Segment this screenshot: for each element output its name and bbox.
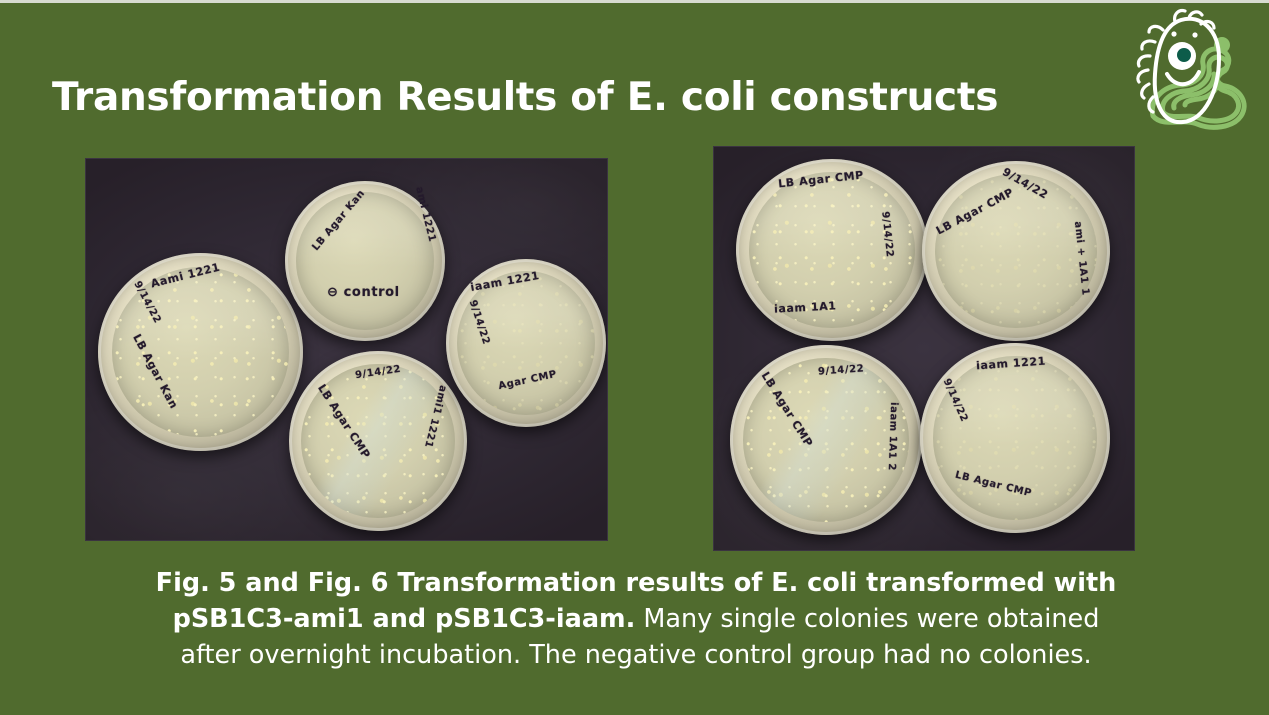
figure-5-photo: Aami 1221 9/14/22 LB Agar Kan LB Agar Ka… <box>85 158 608 541</box>
agar-surface <box>933 356 1096 519</box>
figure-caption-line3: after overnight incubation. The negative… <box>180 640 1091 670</box>
agar-sheen <box>457 271 595 416</box>
agar-surface <box>935 174 1097 329</box>
agar-sheen <box>933 356 1096 519</box>
dish-negative-control: LB Agar Kan ami 1221 ⊖ control <box>285 181 445 341</box>
agar-sheen <box>935 174 1097 329</box>
dish-ami1-kan-left: Aami 1221 9/14/22 LB Agar Kan <box>98 253 303 451</box>
agar-sheen <box>296 192 434 330</box>
igem-bacterium-mascot-logo <box>1119 8 1261 140</box>
logo-antenna-dot-left-icon <box>1171 31 1176 36</box>
figure-caption: Fig. 5 and Fig. 6 Transformation results… <box>62 565 1210 673</box>
figure-caption-line2-normal: Many single colonies were obtained <box>635 604 1099 634</box>
dish-iaam-1221-right: iaam 1221 9/14/22 Agar CMP <box>446 259 606 427</box>
agar-surface <box>749 172 914 329</box>
agar-sheen <box>743 358 908 521</box>
logo-antenna-dot-right-icon <box>1192 32 1197 37</box>
figure-caption-line2-bold: pSB1C3-ami1 and pSB1C3-iaam. <box>173 604 636 634</box>
slide-top-rule <box>0 0 1269 3</box>
dish-iaam-1221-bottomright: iaam 1221 9/14/22 LB Agar CMP <box>920 343 1110 533</box>
dish-ami1-cmp-bottom: 9/14/22 LB Agar CMP ami1 1221 <box>289 351 467 531</box>
slide-canvas: Transformation Results of E. coli constr… <box>0 0 1269 715</box>
page-title: Transformation Results of E. coli constr… <box>52 74 1082 122</box>
dish-iaam-1a1-topleft: LB Agar CMP 9/14/22 iaam 1A1 <box>736 159 928 341</box>
figure-caption-line1: Fig. 5 and Fig. 6 Transformation results… <box>156 568 1117 598</box>
logo-eye-pupil-icon <box>1177 48 1191 62</box>
agar-surface <box>743 358 908 521</box>
figure-6-photo: LB Agar CMP 9/14/22 iaam 1A1 LB Agar CMP… <box>713 146 1135 551</box>
agar-sheen <box>749 172 914 329</box>
dish-iaam-1a1-2-bottomleft: LB Agar CMP 9/14/22 iaam 1A1 2 <box>730 345 922 535</box>
agar-sheen <box>301 364 454 519</box>
agar-surface <box>457 271 595 416</box>
dish-ami-1a1-topright: LB Agar CMP 9/14/22 ami + 1A1 1 <box>922 161 1110 341</box>
agar-surface <box>296 192 434 330</box>
agar-surface <box>301 364 454 519</box>
agar-sheen <box>112 267 288 437</box>
agar-surface <box>112 267 288 437</box>
